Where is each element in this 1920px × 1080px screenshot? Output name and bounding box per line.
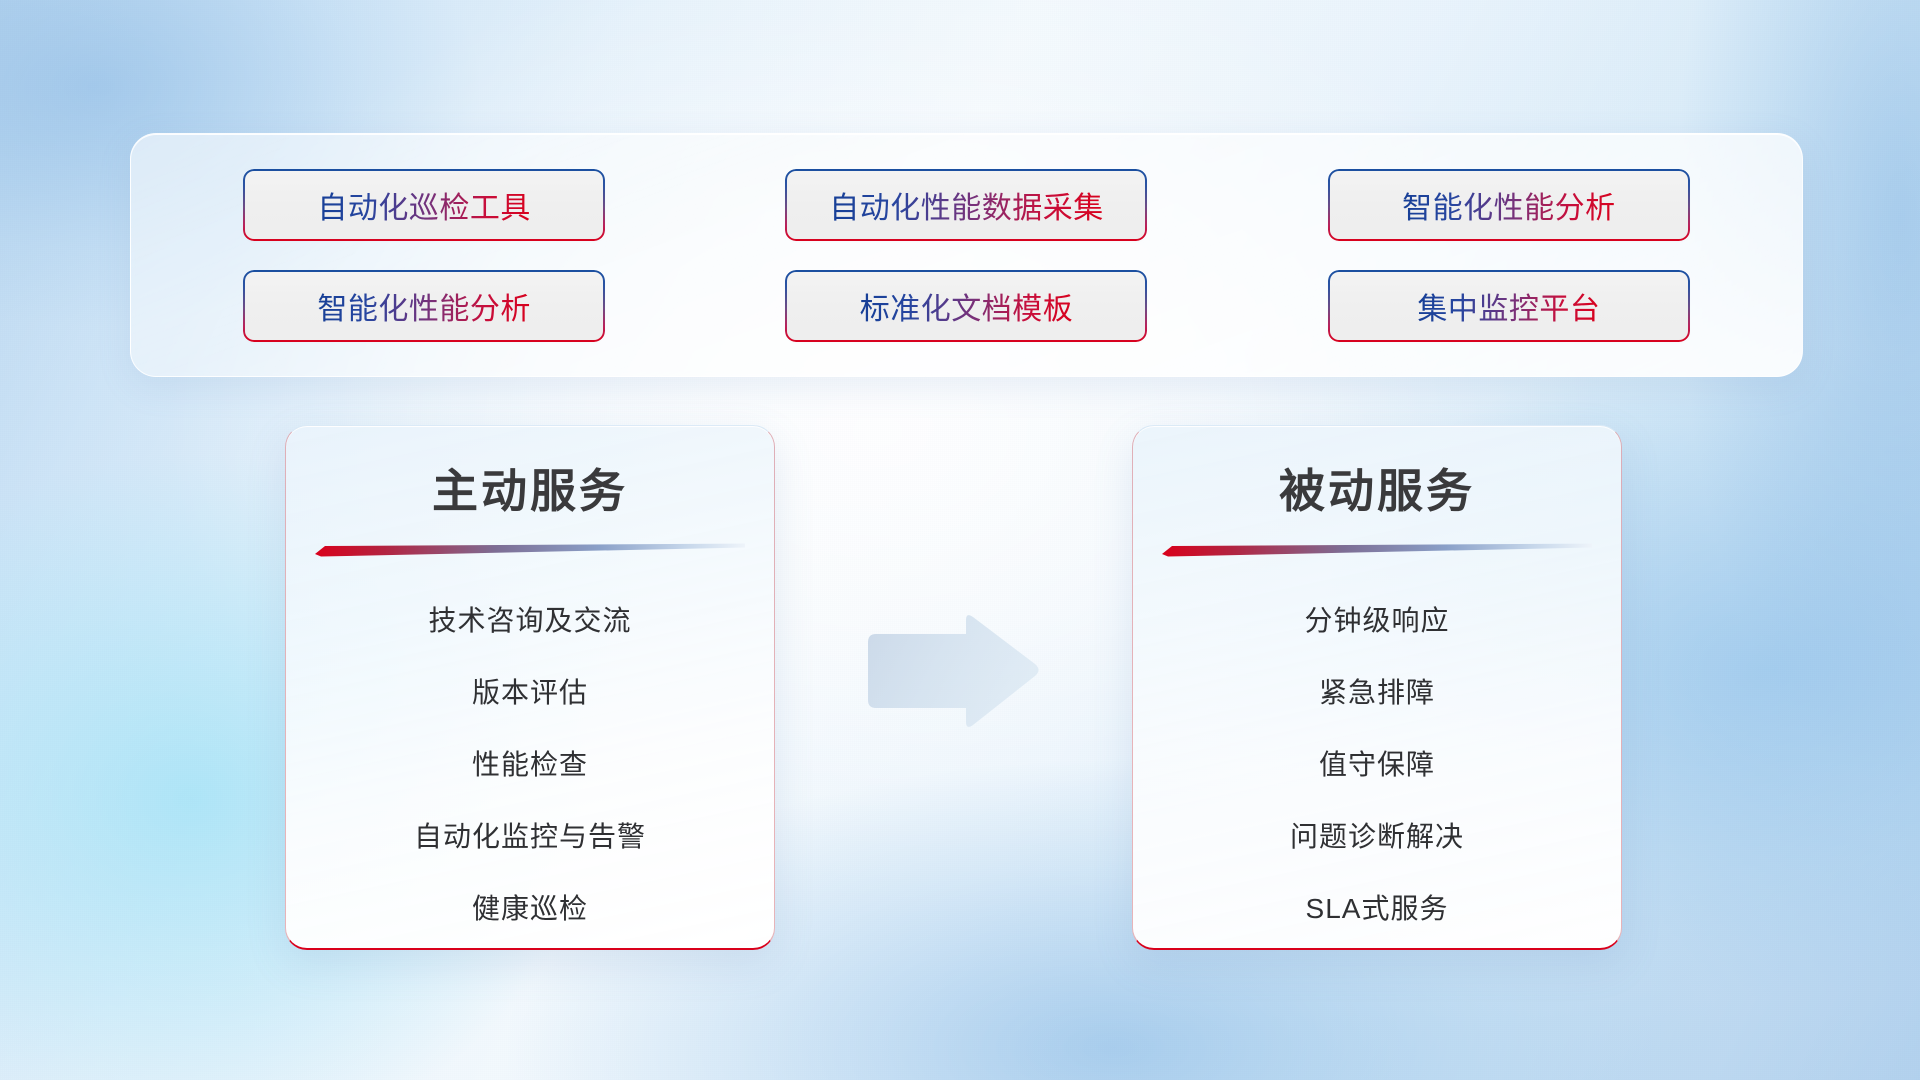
capability-pill-label: 自动化巡检工具 bbox=[317, 183, 531, 227]
capability-pill-label: 集中监控平台 bbox=[1417, 284, 1600, 328]
service-card-proactive: 主动服务 技术咨询及交流 版本评估 性能检查 bbox=[285, 425, 775, 950]
service-item: 性能检查 bbox=[472, 727, 588, 799]
service-item-list: 分钟级响应 紧急排障 值守保障 问题诊断解决 SLA式服务 bbox=[1161, 583, 1593, 943]
service-item: 分钟级响应 bbox=[1304, 583, 1449, 655]
capability-pill-3[interactable]: 智能化性能分析 bbox=[1330, 171, 1688, 239]
service-item: 值守保障 bbox=[1319, 727, 1435, 799]
service-item-list: 技术咨询及交流 版本评估 性能检查 自动化监控与告警 健康巡检 bbox=[314, 583, 746, 943]
service-card-title: 被动服务 bbox=[1279, 466, 1475, 517]
service-item: SLA式服务 bbox=[1306, 871, 1449, 943]
capability-pill-6[interactable]: 集中监控平台 bbox=[1330, 272, 1688, 340]
service-item: 技术咨询及交流 bbox=[428, 583, 631, 655]
service-item: 版本评估 bbox=[472, 655, 588, 727]
service-card-reactive: 被动服务 分钟级响应 紧急排障 值守保障 bbox=[1132, 425, 1622, 950]
capability-pill-label: 智能化性能分析 bbox=[1402, 183, 1616, 227]
capability-pill-1[interactable]: 自动化巡检工具 bbox=[245, 171, 603, 239]
title-underline-accent bbox=[315, 543, 745, 557]
service-item: 问题诊断解决 bbox=[1290, 799, 1464, 871]
service-item: 紧急排障 bbox=[1319, 655, 1435, 727]
capability-pill-2[interactable]: 自动化性能数据采集 bbox=[787, 171, 1145, 239]
flow-arrow-right bbox=[862, 612, 1042, 732]
capability-pill-label: 自动化性能数据采集 bbox=[829, 183, 1104, 227]
capability-pill-4[interactable]: 智能化性能分析 bbox=[245, 272, 603, 340]
capability-pill-label: 标准化文档模板 bbox=[860, 284, 1074, 328]
title-underline-accent bbox=[1162, 543, 1592, 557]
capability-tags-panel: 自动化巡检工具 自动化性能数据采集 智能化性能分析 智能化性能分析 标准化文档模… bbox=[130, 133, 1803, 377]
service-item: 健康巡检 bbox=[472, 871, 588, 943]
capability-pill-label: 智能化性能分析 bbox=[317, 284, 531, 328]
service-card-title: 主动服务 bbox=[432, 466, 628, 517]
service-item: 自动化监控与告警 bbox=[414, 799, 646, 871]
capability-pill-5[interactable]: 标准化文档模板 bbox=[787, 272, 1145, 340]
